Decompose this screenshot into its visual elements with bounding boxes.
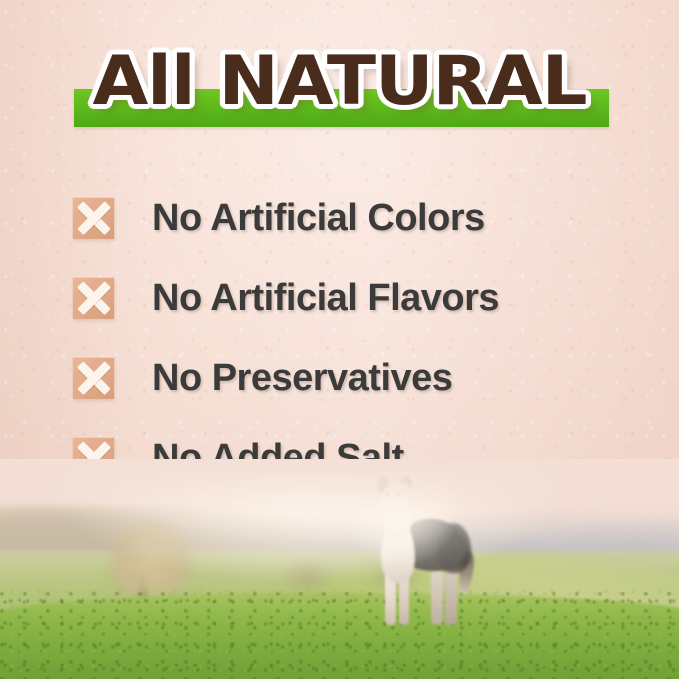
claims-list: No Artificial Colors No Artificial Flavo…: [73, 178, 633, 498]
claim-row: No Artificial Flavors: [73, 258, 633, 338]
page-title: All NATURAL: [0, 44, 679, 120]
dog-hind-leg-left: [431, 569, 443, 625]
claim-label-no-preservatives: No Preservatives: [152, 357, 452, 399]
claim-row: No Artificial Colors: [73, 178, 633, 258]
all-natural-poster: All NATURAL No Artificial Colors No Arti…: [0, 0, 679, 679]
landscape-photo: [0, 459, 679, 679]
dog-eye-right: [397, 492, 401, 496]
photo-scene: [0, 459, 679, 679]
x-mark-icon: [73, 278, 114, 319]
headline-banner: All NATURAL: [0, 44, 679, 140]
dog-hind-leg-right: [445, 567, 457, 625]
claim-label-no-artificial-colors: No Artificial Colors: [152, 197, 485, 239]
claim-row: No Preservatives: [73, 338, 633, 418]
grass-texture: [0, 587, 679, 679]
dog-eye-left: [386, 492, 390, 496]
claim-label-no-artificial-flavors: No Artificial Flavors: [152, 277, 499, 319]
x-mark-icon: [73, 198, 114, 239]
dog-border-collie: [355, 475, 477, 635]
x-mark-icon: [73, 358, 114, 399]
dog-muzzle: [379, 495, 398, 515]
